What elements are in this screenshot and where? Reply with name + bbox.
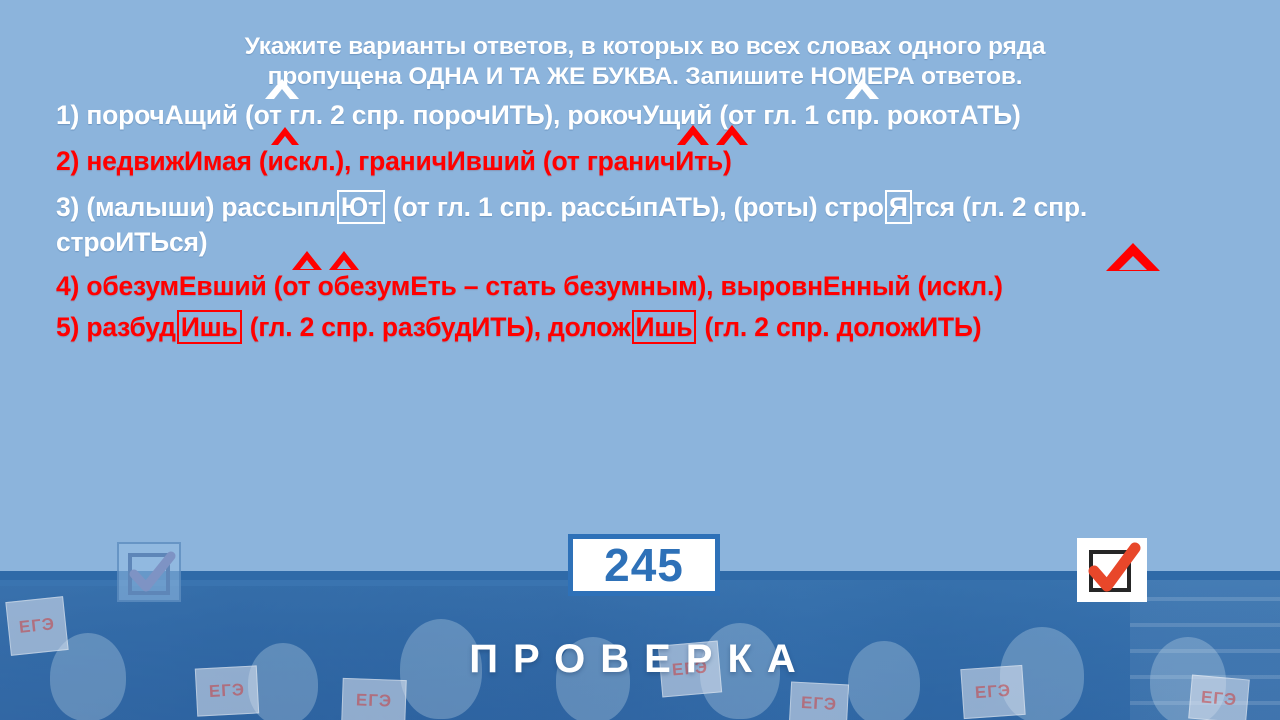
answer-option-4-text: 4) обезумЕвший (от обезумЕть – стать без… bbox=[56, 271, 1003, 301]
ege-booklet: ЕГЭ bbox=[789, 682, 849, 720]
checkbox-check-icon-left bbox=[117, 542, 181, 602]
ege-booklet: ЕГЭ bbox=[341, 678, 406, 720]
answer-option-5-middle: (гл. 2 спр. разбудИТЬ), долож bbox=[243, 312, 631, 342]
question-headline-line-1: Укажите варианты ответов, в которых во в… bbox=[78, 32, 1212, 62]
answer-option-5[interactable]: 5) разбудИшь (гл. 2 спр. разбудИТЬ), дол… bbox=[56, 310, 1234, 345]
highlight-box-letters: Ишь bbox=[632, 310, 697, 344]
answer-key-value: 245 bbox=[604, 538, 684, 592]
answer-option-4[interactable]: 4) обезумЕвший (от обезумЕть – стать без… bbox=[56, 269, 1234, 304]
highlight-box-letters: Ют bbox=[337, 190, 385, 224]
slide-root: ЕГЭЕГЭЕГЭЕГЭЕГЭЕГЭЕГЭ Укажите варианты о… bbox=[0, 0, 1280, 720]
answer-key-badge: 245 bbox=[568, 534, 720, 596]
answer-option-3-middle: (от гл. 1 спр. рассы́пАТЬ), (роты) стро bbox=[386, 192, 884, 222]
highlight-box-letters: Ишь bbox=[177, 310, 242, 344]
highlight-box-letters: Я bbox=[885, 190, 912, 224]
checkbox-check-icon-right bbox=[1077, 538, 1147, 602]
answer-option-5-prefix: 5) разбуд bbox=[56, 312, 176, 342]
question-headline: Укажите варианты ответов, в которых во в… bbox=[56, 32, 1234, 92]
answer-option-3-prefix: 3) (малыши) рассыпл bbox=[56, 192, 336, 222]
question-headline-line-2: пропущена ОДНА И ТА ЖЕ БУКВА. Запишите Н… bbox=[78, 62, 1212, 92]
footer-wordmark: ПРОВЕРКА bbox=[0, 637, 1280, 682]
answer-option-1-text: 1) порочАщий (от гл. 2 спр. порочИТЬ), р… bbox=[56, 100, 1021, 130]
answer-option-3[interactable]: 3) (малыши) рассыплЮт (от гл. 1 спр. рас… bbox=[56, 190, 1234, 260]
question-text-block: Укажите варианты ответов, в которых во в… bbox=[0, 0, 1280, 345]
answer-option-2-text: 2) недвижИмая (искл.), граничИвший (от г… bbox=[56, 146, 732, 176]
answer-option-5-suffix: (гл. 2 спр. доложИТЬ) bbox=[697, 312, 981, 342]
answer-option-1[interactable]: 1) порочАщий (от гл. 2 спр. порочИТЬ), р… bbox=[56, 98, 1234, 133]
answer-option-2[interactable]: 2) недвижИмая (искл.), граничИвший (от г… bbox=[56, 144, 1234, 179]
